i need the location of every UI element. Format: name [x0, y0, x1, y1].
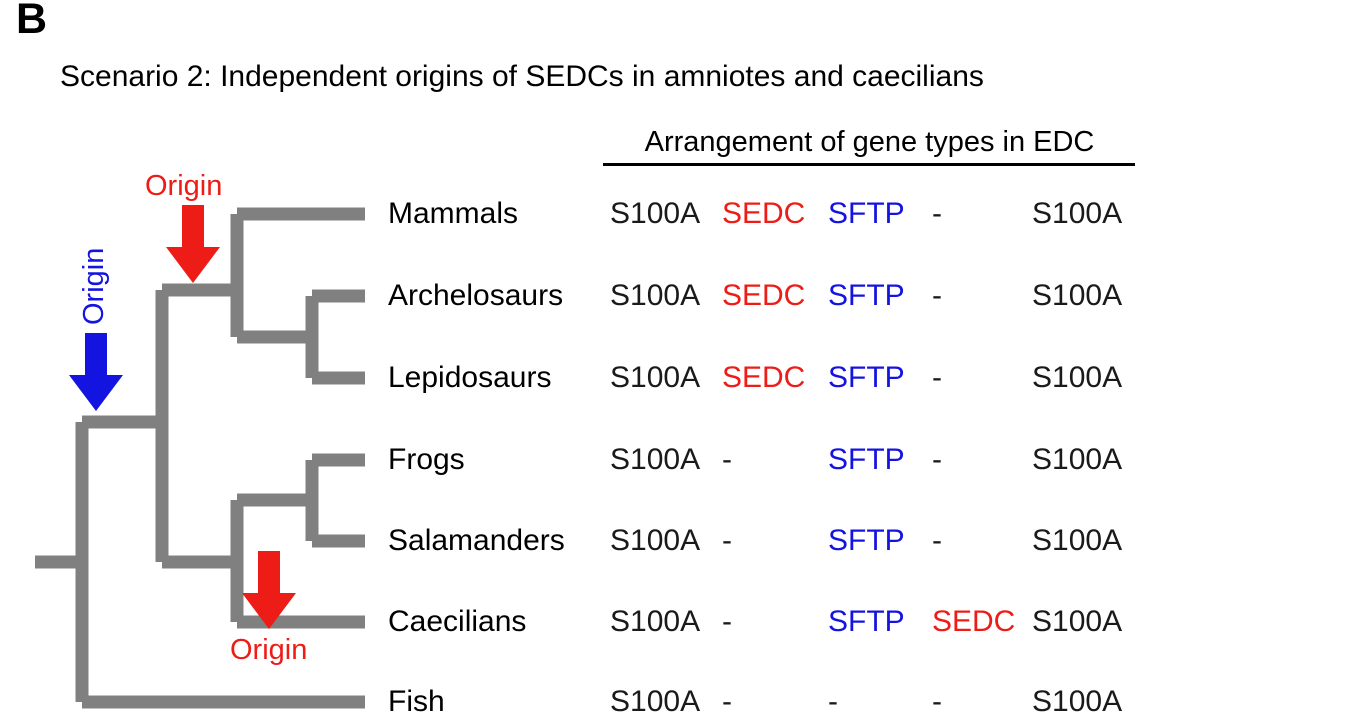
- gene-cell: S100A: [1032, 685, 1122, 719]
- gene-cell: SFTP: [828, 524, 905, 558]
- gene-cell: SEDC: [932, 605, 1015, 639]
- gene-cell: SFTP: [828, 605, 905, 639]
- origin-label-sftp: Origin: [78, 248, 111, 325]
- gene-cell: S100A: [1032, 197, 1122, 231]
- gene-cell: S100A: [610, 361, 700, 395]
- gene-cell: SEDC: [722, 361, 805, 395]
- origin-arrow-sftp-icon: [69, 333, 123, 411]
- gene-cell: -: [932, 443, 942, 477]
- gene-cell: -: [932, 361, 942, 395]
- gene-cell: -: [932, 197, 942, 231]
- gene-cell: S100A: [1032, 279, 1122, 313]
- origin-arrow-amniote-icon: [166, 205, 220, 283]
- gene-cell: S100A: [610, 605, 700, 639]
- gene-cell: -: [722, 524, 732, 558]
- gene-cell: -: [932, 524, 942, 558]
- gene-cell: SFTP: [828, 197, 905, 231]
- gene-cell: S100A: [610, 443, 700, 477]
- gene-cell: -: [932, 279, 942, 313]
- taxon-label: Archelosaurs: [388, 279, 563, 313]
- figure-panel-b: B Scenario 2: Independent origins of SED…: [0, 0, 1348, 724]
- gene-cell: -: [932, 685, 942, 719]
- taxon-label: Salamanders: [388, 524, 565, 558]
- gene-cell: SEDC: [722, 197, 805, 231]
- gene-cell: SFTP: [828, 361, 905, 395]
- gene-cell: S100A: [610, 685, 700, 719]
- gene-cell: SEDC: [722, 279, 805, 313]
- gene-cell: S100A: [1032, 524, 1122, 558]
- gene-cell: SFTP: [828, 279, 905, 313]
- table-header-rule: [603, 163, 1135, 166]
- gene-cell: S100A: [610, 197, 700, 231]
- origin-label-caecilian: Origin: [230, 634, 307, 667]
- gene-cell: S100A: [610, 279, 700, 313]
- gene-cell: -: [722, 443, 732, 477]
- taxon-label: Frogs: [388, 443, 465, 477]
- gene-cell: S100A: [1032, 443, 1122, 477]
- gene-cell: -: [722, 685, 732, 719]
- gene-cell: S100A: [1032, 605, 1122, 639]
- gene-cell: S100A: [1032, 361, 1122, 395]
- phylogenetic-tree: [0, 0, 400, 724]
- gene-cell: -: [828, 685, 838, 719]
- gene-cell: S100A: [610, 524, 700, 558]
- gene-cell: SFTP: [828, 443, 905, 477]
- taxon-label: Mammals: [388, 197, 518, 231]
- gene-cell: -: [722, 605, 732, 639]
- origin-label-amniote: Origin: [145, 170, 222, 203]
- taxon-label: Caecilians: [388, 605, 526, 639]
- taxon-label: Lepidosaurs: [388, 361, 551, 395]
- taxon-label: Fish: [388, 685, 445, 719]
- table-header-title: Arrangement of gene types in EDC: [603, 126, 1136, 159]
